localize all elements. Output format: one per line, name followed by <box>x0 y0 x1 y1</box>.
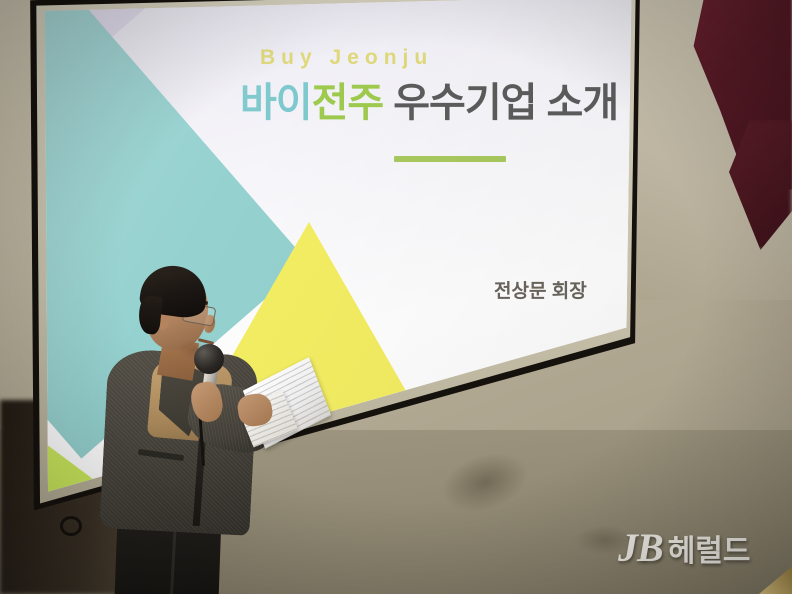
slide-title: 바이전주우수기업 소개 <box>240 70 618 128</box>
publisher-watermark: JB 헤럴드 <box>618 524 751 571</box>
watermark-wordmark: 헤럴드 <box>668 526 751 570</box>
slide-title-segment-bai: 바이 <box>240 81 312 125</box>
watermark-jb-monogram: JB <box>618 524 663 571</box>
microphone-icon <box>194 344 224 374</box>
slide-eyebrow-text: Buy Jeonju <box>260 46 433 70</box>
screen-roller-handle <box>60 516 82 536</box>
slide-title-segment-rest: 우수기업 소개 <box>393 81 618 125</box>
photo-canvas: Buy Jeonju 바이전주우수기업 소개 전상문 회장 <box>0 0 792 594</box>
slide-presenter-byline: 전상문 회장 <box>494 276 587 303</box>
slide-title-underline <box>394 156 506 162</box>
slide-title-segment-jeonju: 전주 <box>312 81 384 125</box>
